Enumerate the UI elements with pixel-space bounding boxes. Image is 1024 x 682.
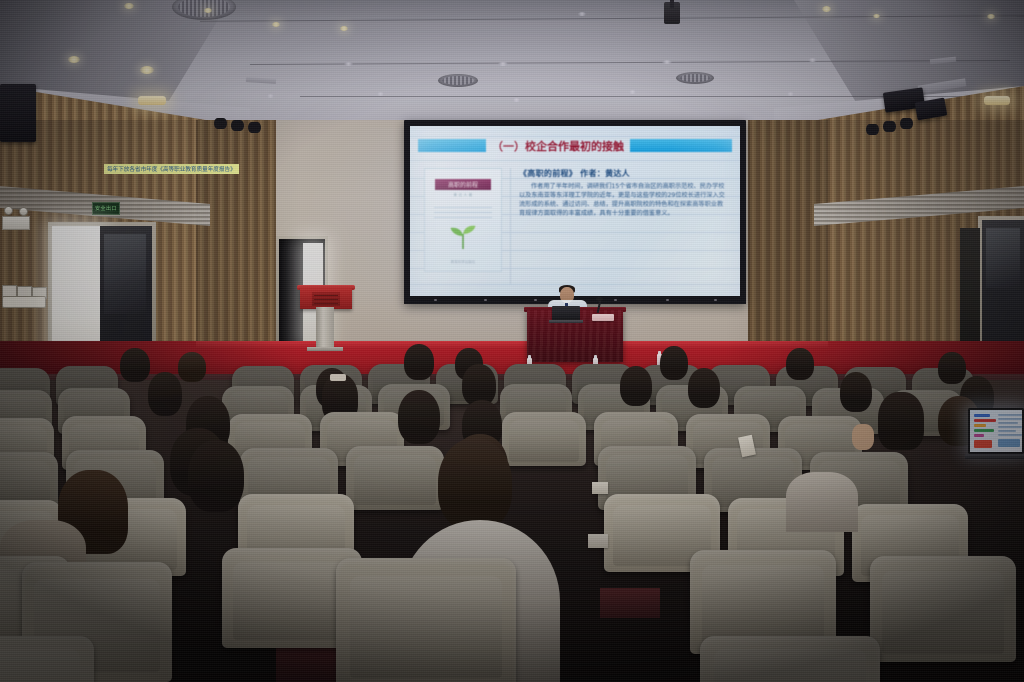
slide-heading: 《高职的前程》 作者：黄达人 [519, 168, 726, 179]
exit-sign-label: 安全出口 [95, 205, 117, 212]
ceiling-spotlight [68, 56, 80, 63]
door-glass-highlight [104, 234, 146, 314]
auditorium-photo: 安全出口 （一）校企合作最初的接触 高职的前程 [0, 0, 1024, 682]
wall-switch[interactable] [4, 206, 13, 215]
attendee-head [404, 344, 434, 380]
slide-paragraph: 作者用了半年时间，调研我们15个省市自治区的高职示范校、民办学校以及东南亚等东洋… [519, 182, 726, 218]
attendee-head [120, 348, 150, 382]
wall-switch[interactable] [19, 207, 28, 216]
attendee-head [188, 440, 244, 512]
seat[interactable] [870, 556, 1016, 662]
floor-carpet [600, 588, 660, 618]
book-cover-rules [434, 203, 492, 222]
slide-highlight-text: 每年下放各省市年度《高等职业教育质量年度报告》 [104, 164, 239, 174]
laptop-keyboard-base [965, 454, 1024, 459]
ceiling-vent-grill-icon [680, 74, 710, 82]
handout-paper [588, 534, 608, 548]
attendee-head [938, 352, 966, 384]
projector-mount [670, 0, 674, 8]
lectern-front-panel [312, 292, 340, 306]
ceiling-downlight [786, 92, 795, 96]
attendee-head [148, 372, 182, 416]
lectern-base [307, 347, 343, 351]
wall-speaker-left [0, 84, 36, 142]
attendee-shoulder [786, 472, 858, 532]
door-glass-highlight [986, 228, 1020, 288]
attendee-head [840, 372, 872, 412]
stage-light [866, 124, 879, 135]
sprout-icon [447, 223, 479, 249]
attendee-head [660, 346, 688, 380]
ceiling-downlight [344, 62, 353, 66]
stage-light [248, 122, 261, 133]
stage-light [900, 118, 913, 129]
book-cover-publisher: 教育科学出版社 [425, 260, 501, 265]
ceiling-spotlight [340, 26, 348, 31]
seat[interactable] [336, 558, 516, 682]
ceiling-downlight [628, 90, 637, 94]
slide-title: （一）校企合作最初的接触 [486, 138, 630, 154]
attendee-laptop[interactable] [968, 408, 1024, 466]
slide-accent-bar-right [630, 139, 732, 152]
attendee-head [620, 366, 652, 406]
ceiling-spotlight [873, 14, 880, 18]
attendee-head [878, 392, 924, 450]
presenter-laptop-screen [552, 306, 580, 321]
stage-light [883, 121, 896, 132]
handout-paper [592, 482, 608, 494]
ceiling-spotlight [822, 6, 831, 12]
attendee-head [178, 352, 206, 382]
seat[interactable] [0, 636, 94, 682]
ceiling-spotlight [140, 66, 154, 74]
ceiling-downlight [376, 92, 385, 96]
slide-divider [510, 168, 511, 284]
stage-light [231, 120, 244, 131]
slide-body: 高职的前程 黄 达 人 著 教育科学出版社 《高职的前程》 作者：黄达人 作者用… [424, 168, 726, 284]
ceiling-downlight [578, 12, 586, 16]
attendee-head [688, 368, 720, 408]
seat[interactable] [700, 636, 880, 682]
slide-text-column: 《高职的前程》 作者：黄达人 作者用了半年时间，调研我们15个省市自治区的高职示… [519, 168, 726, 284]
ceiling-spotlight [204, 8, 212, 13]
attendee-head [438, 438, 512, 530]
microphone-icon [596, 297, 603, 301]
ceiling-vent-grill-icon [442, 76, 474, 85]
ceiling-downlight [662, 60, 672, 64]
attendee-head [398, 390, 440, 444]
slide-accent-bar-left [418, 139, 486, 152]
lectern-stem [316, 307, 334, 349]
projection-screen: （一）校企合作最初的接触 高职的前程 黄 达 人 著 教育科学出版社 [410, 126, 740, 296]
ceiling-downlight [266, 94, 275, 98]
switch-panel[interactable] [2, 296, 46, 308]
ceiling-downlight [512, 98, 521, 102]
presenter-laptop-base [549, 320, 583, 323]
ceiling-spotlight [272, 22, 280, 27]
book-cover-image: 高职的前程 黄 达 人 著 教育科学出版社 [424, 168, 502, 272]
exit-sign: 安全出口 [92, 202, 120, 215]
stage-light [214, 118, 227, 129]
name-placard [592, 314, 614, 321]
ceiling-downlight [808, 58, 817, 62]
wall-plaque [2, 216, 30, 230]
seat[interactable] [502, 412, 586, 466]
attendee-hand [852, 424, 874, 450]
wall-lamp-left [138, 96, 166, 105]
slide-title-bar: （一）校企合作最初的接触 [418, 138, 732, 153]
hair-clip [330, 374, 346, 381]
book-cover-author: 黄 达 人 著 [453, 193, 472, 198]
seat[interactable] [346, 446, 444, 510]
book-cover-title: 高职的前程 [435, 179, 491, 190]
wall-lamp-right [984, 96, 1010, 105]
laptop-screen [968, 408, 1024, 454]
ceiling-spotlight [124, 3, 134, 9]
ceiling-downlight [498, 62, 508, 66]
attendee-head [786, 348, 814, 380]
ceiling-spotlight [987, 14, 995, 19]
